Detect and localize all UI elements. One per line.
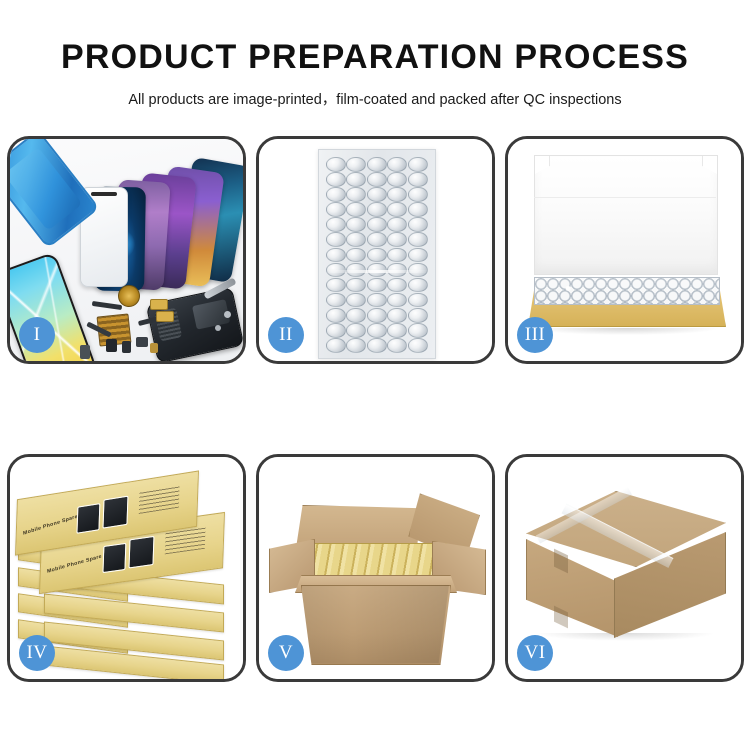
bubble bbox=[387, 157, 407, 172]
bubble bbox=[408, 232, 428, 247]
small-part-3 bbox=[136, 337, 148, 347]
bubble bbox=[326, 278, 346, 293]
bubble bbox=[387, 308, 407, 323]
connector-part-2 bbox=[156, 311, 174, 322]
bubble bbox=[326, 248, 346, 263]
process-step-panel-1[interactable]: I bbox=[7, 136, 246, 364]
bubble bbox=[387, 232, 407, 247]
bubble bbox=[346, 157, 366, 172]
bubble bbox=[367, 323, 387, 338]
bubble bbox=[326, 308, 346, 323]
process-step-panel-6[interactable]: VI bbox=[505, 454, 744, 682]
coil-part bbox=[118, 285, 140, 307]
step-badge-2: II bbox=[268, 317, 304, 353]
bubble bbox=[387, 323, 407, 338]
bubble bbox=[346, 338, 366, 353]
bubble bbox=[367, 293, 387, 308]
bubble bbox=[387, 248, 407, 263]
bubble bbox=[326, 323, 346, 338]
bubble bbox=[408, 248, 428, 263]
bubble-grid bbox=[326, 157, 428, 351]
page-header: PRODUCT PREPARATION PROCESS All products… bbox=[0, 0, 750, 128]
bubble bbox=[367, 172, 387, 187]
lid-fold-line bbox=[534, 197, 716, 198]
bubble bbox=[346, 202, 366, 217]
bubble bbox=[387, 338, 407, 353]
bubble bbox=[408, 217, 428, 232]
bubble bbox=[387, 278, 407, 293]
bubble-wrap-pouch bbox=[318, 149, 436, 359]
bubble bbox=[408, 172, 428, 187]
bubble bbox=[367, 187, 387, 202]
bubble bbox=[346, 293, 366, 308]
bubble bbox=[408, 157, 428, 172]
bubble bbox=[346, 278, 366, 293]
bubble bbox=[346, 187, 366, 202]
small-part-5 bbox=[80, 345, 90, 359]
small-part-4 bbox=[150, 343, 158, 353]
step-badge-3: III bbox=[517, 317, 553, 353]
box-spec-lines-1 bbox=[139, 486, 180, 514]
process-step-grid: I II III bbox=[7, 136, 743, 682]
screw-2 bbox=[215, 325, 221, 331]
bubble bbox=[387, 187, 407, 202]
bubble bbox=[326, 172, 346, 187]
bubble bbox=[326, 217, 346, 232]
carton-shadow bbox=[534, 633, 716, 641]
bubble bbox=[346, 217, 366, 232]
bubble bbox=[408, 187, 428, 202]
small-part-1 bbox=[106, 339, 117, 352]
small-part-2 bbox=[122, 341, 131, 353]
bubble bbox=[408, 338, 428, 353]
process-step-panel-4[interactable]: Mobile Phone Spare Parts Mobile Phone Sp… bbox=[7, 454, 246, 682]
bubble bbox=[408, 323, 428, 338]
page-title: PRODUCT PREPARATION PROCESS bbox=[0, 0, 750, 77]
bubble bbox=[326, 338, 346, 353]
white-box-lid bbox=[534, 155, 718, 275]
process-step-panel-5[interactable]: V bbox=[256, 454, 495, 682]
page-subtitle: All products are image-printed，film-coat… bbox=[0, 77, 750, 109]
bubble bbox=[387, 293, 407, 308]
bubble bbox=[326, 202, 346, 217]
process-step-panel-2[interactable]: II bbox=[256, 136, 495, 364]
process-step-panel-3[interactable]: III bbox=[505, 136, 744, 364]
bubble bbox=[387, 172, 407, 187]
bubble bbox=[326, 187, 346, 202]
box-product-image-2 bbox=[102, 496, 128, 529]
bubble bbox=[387, 202, 407, 217]
bubble-wrapped-contents bbox=[534, 277, 720, 305]
bubble bbox=[346, 232, 366, 247]
bubble bbox=[367, 278, 387, 293]
box-product-image-1 bbox=[76, 503, 100, 534]
box-product-image-3 bbox=[102, 543, 126, 573]
bubble bbox=[367, 217, 387, 232]
bubble bbox=[367, 232, 387, 247]
bubble bbox=[408, 293, 428, 308]
bubble bbox=[346, 308, 366, 323]
screw-1 bbox=[224, 311, 231, 318]
step-badge-5: V bbox=[268, 635, 304, 671]
connector-part-1 bbox=[150, 299, 168, 310]
bubble bbox=[346, 172, 366, 187]
pouch-seam bbox=[323, 270, 431, 273]
bubble bbox=[367, 157, 387, 172]
bubble bbox=[367, 248, 387, 263]
bubble bbox=[346, 248, 366, 263]
bubble bbox=[408, 308, 428, 323]
bubble bbox=[367, 338, 387, 353]
step-badge-1: I bbox=[19, 317, 55, 353]
bubble bbox=[326, 157, 346, 172]
bubble bbox=[346, 323, 366, 338]
box-shadow bbox=[534, 328, 718, 335]
bubble bbox=[326, 293, 346, 308]
bubble bbox=[387, 217, 407, 232]
box-product-image-4 bbox=[128, 536, 154, 569]
bubble bbox=[408, 202, 428, 217]
step-badge-4: IV bbox=[19, 635, 55, 671]
bubble bbox=[367, 202, 387, 217]
carton-body-shading bbox=[301, 585, 449, 663]
bubble bbox=[367, 308, 387, 323]
bubble bbox=[408, 278, 428, 293]
step-badge-6: VI bbox=[517, 635, 553, 671]
bubble bbox=[326, 232, 346, 247]
